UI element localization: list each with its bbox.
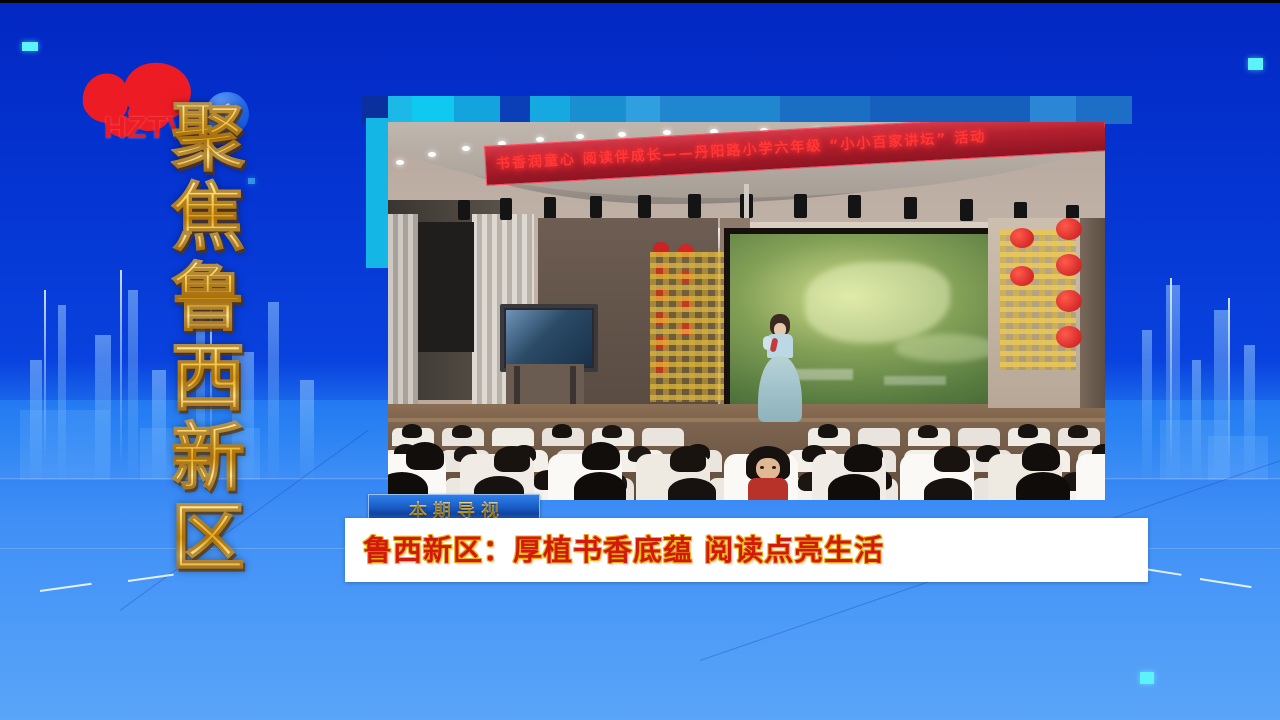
program-title-char: 区: [171, 498, 245, 578]
stage-performer: [750, 314, 810, 424]
photo-decor-band: [362, 96, 1132, 124]
program-title-vertical: 聚 焦 鲁 西 新 区: [160, 98, 256, 578]
headline-bar: 鲁西新区：厚植书香底蕴 阅读点亮生活: [345, 518, 1148, 582]
letterbox-strip: [0, 0, 1280, 3]
accent-square: [1140, 672, 1154, 684]
headline-text: 鲁西新区：厚植书香底蕴 阅读点亮生活: [363, 533, 884, 567]
accent-square: [22, 42, 38, 51]
accent-square: [1248, 58, 1263, 70]
program-title-char: 西: [171, 338, 245, 418]
program-title-char: 聚: [171, 98, 245, 178]
classroom-monitor: [500, 304, 598, 372]
news-photo: 书香润童心 阅读伴成长——丹阳路小学六年级 “小小百家讲坛” 活动: [388, 122, 1105, 500]
program-title-char: 焦: [171, 178, 245, 258]
program-title-char: 鲁: [171, 258, 245, 338]
program-title-char: 新: [171, 418, 245, 498]
broadcast-frame: HZTV 1 聚 焦 鲁 西 新 区: [0, 0, 1280, 720]
photo-decor-edge: [366, 118, 390, 268]
